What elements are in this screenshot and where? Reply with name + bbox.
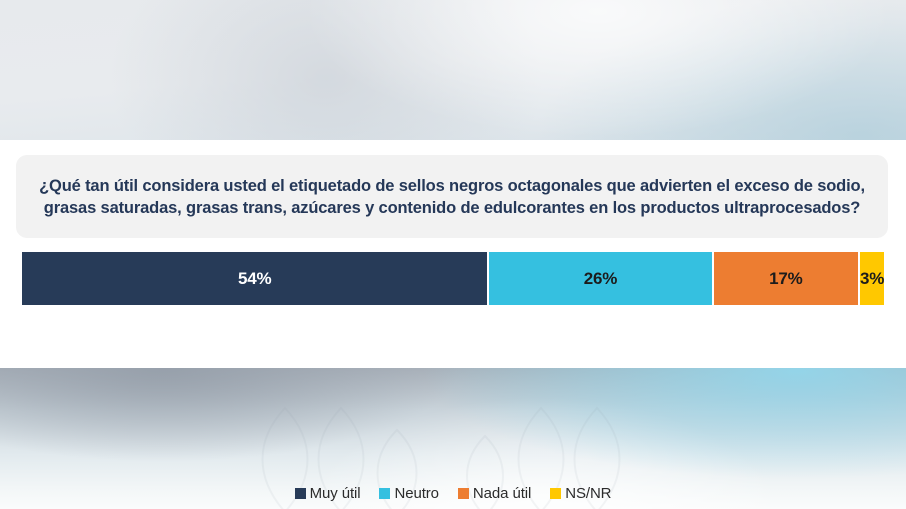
background-top-gradient xyxy=(0,0,906,142)
bar-segment-value-muy-util: 54% xyxy=(238,269,271,289)
square-swatch-icon xyxy=(379,488,390,499)
stacked-bar-chart: 54% 26% 17% 3% xyxy=(22,252,884,305)
bar-segment-neutro[interactable]: 26% xyxy=(487,252,711,305)
legend-label-nada-util: Nada útil xyxy=(473,485,531,502)
legend-item-ns-nr[interactable]: NS/NR xyxy=(550,485,611,502)
legend-label-muy-util: Muy útil xyxy=(310,485,361,502)
bar-segment-value-nada-util: 17% xyxy=(769,269,802,289)
chart-question-panel: ¿Qué tan útil considera usted el etiquet… xyxy=(16,155,888,238)
chart-question-text: ¿Qué tan útil considera usted el etiquet… xyxy=(30,176,874,220)
square-swatch-icon xyxy=(550,488,561,499)
chart-card: ¿Qué tan útil considera usted el etiquet… xyxy=(0,140,906,368)
legend-item-muy-util[interactable]: Muy útil xyxy=(295,485,361,502)
bar-segment-ns-nr[interactable]: 3% xyxy=(858,252,884,305)
legend-item-nada-util[interactable]: Nada útil xyxy=(458,485,531,502)
square-swatch-icon xyxy=(295,488,306,499)
bar-segment-value-neutro: 26% xyxy=(584,269,617,289)
chart-legend: Muy útil Neutro Nada útil NS/NR xyxy=(0,485,906,502)
legend-label-ns-nr: NS/NR xyxy=(565,485,611,502)
legend-item-neutro[interactable]: Neutro xyxy=(379,485,438,502)
bar-segment-value-ns-nr: 3% xyxy=(860,269,884,289)
legend-label-neutro: Neutro xyxy=(394,485,438,502)
screenshot-stage: ¿Qué tan útil considera usted el etiquet… xyxy=(0,0,906,509)
square-swatch-icon xyxy=(458,488,469,499)
bar-segment-nada-util[interactable]: 17% xyxy=(712,252,859,305)
bar-segment-muy-util[interactable]: 54% xyxy=(22,252,487,305)
